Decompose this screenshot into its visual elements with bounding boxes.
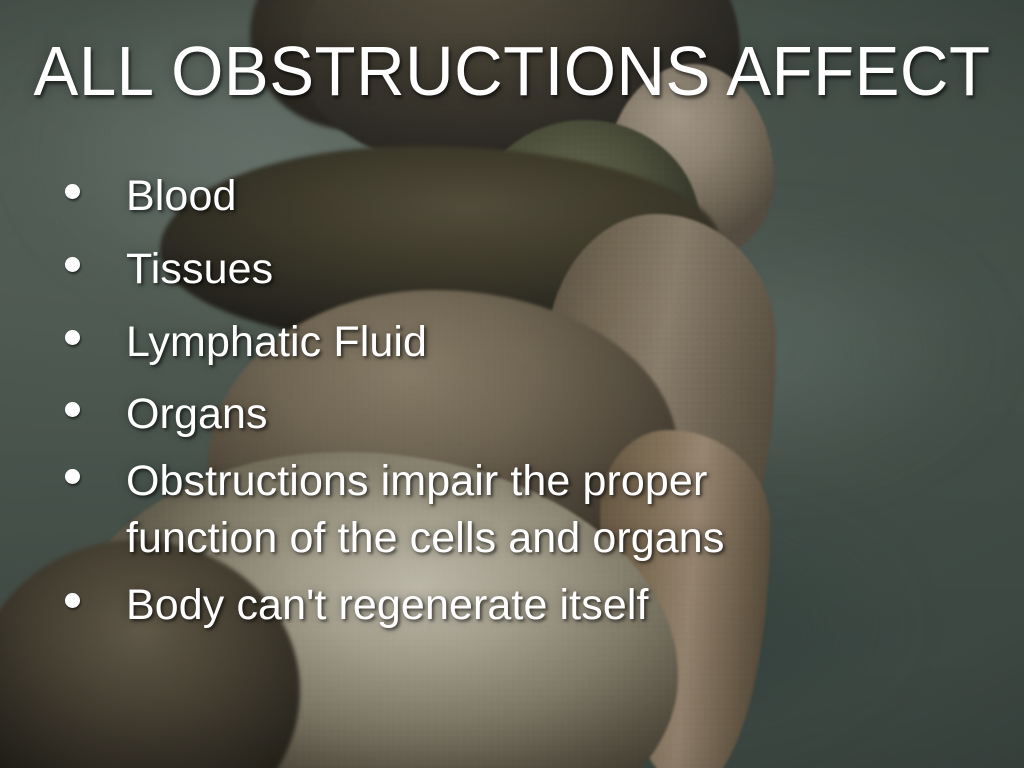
bullet-marker (56, 386, 126, 417)
bullet-marker (56, 453, 126, 484)
bullet-dot-icon (65, 469, 80, 484)
presentation-slide: ALL OBSTRUCTIONS AFFECT Blood Tissues Ly… (0, 0, 1024, 768)
list-item: Organs (56, 386, 984, 443)
bullet-dot-icon (65, 593, 80, 608)
bullet-dot-icon (65, 257, 80, 272)
list-item-label: Body can't regenerate itself (126, 577, 649, 634)
list-item-label: Tissues (126, 241, 273, 298)
bullet-dot-icon (65, 330, 80, 345)
list-item-label: Blood (126, 168, 236, 225)
bullet-dot-icon (65, 402, 80, 417)
list-item-label: Obstructions impair the proper function … (126, 453, 866, 567)
slide-title: ALL OBSTRUCTIONS AFFECT (20, 36, 1003, 106)
list-item: Tissues (56, 241, 984, 298)
bullet-marker (56, 241, 126, 272)
list-item: Body can't regenerate itself (56, 577, 984, 634)
slide-content: ALL OBSTRUCTIONS AFFECT Blood Tissues Ly… (0, 0, 1024, 768)
bullet-dot-icon (65, 184, 80, 199)
bullet-list: Blood Tissues Lymphatic Fluid Organs Obs… (56, 168, 984, 649)
bullet-marker (56, 314, 126, 345)
bullet-marker (56, 168, 126, 199)
bullet-marker (56, 577, 126, 608)
list-item: Blood (56, 168, 984, 225)
list-item: Obstructions impair the proper function … (56, 453, 984, 567)
list-item-label: Lymphatic Fluid (126, 314, 427, 371)
list-item-label: Organs (126, 386, 268, 443)
list-item: Lymphatic Fluid (56, 314, 984, 371)
